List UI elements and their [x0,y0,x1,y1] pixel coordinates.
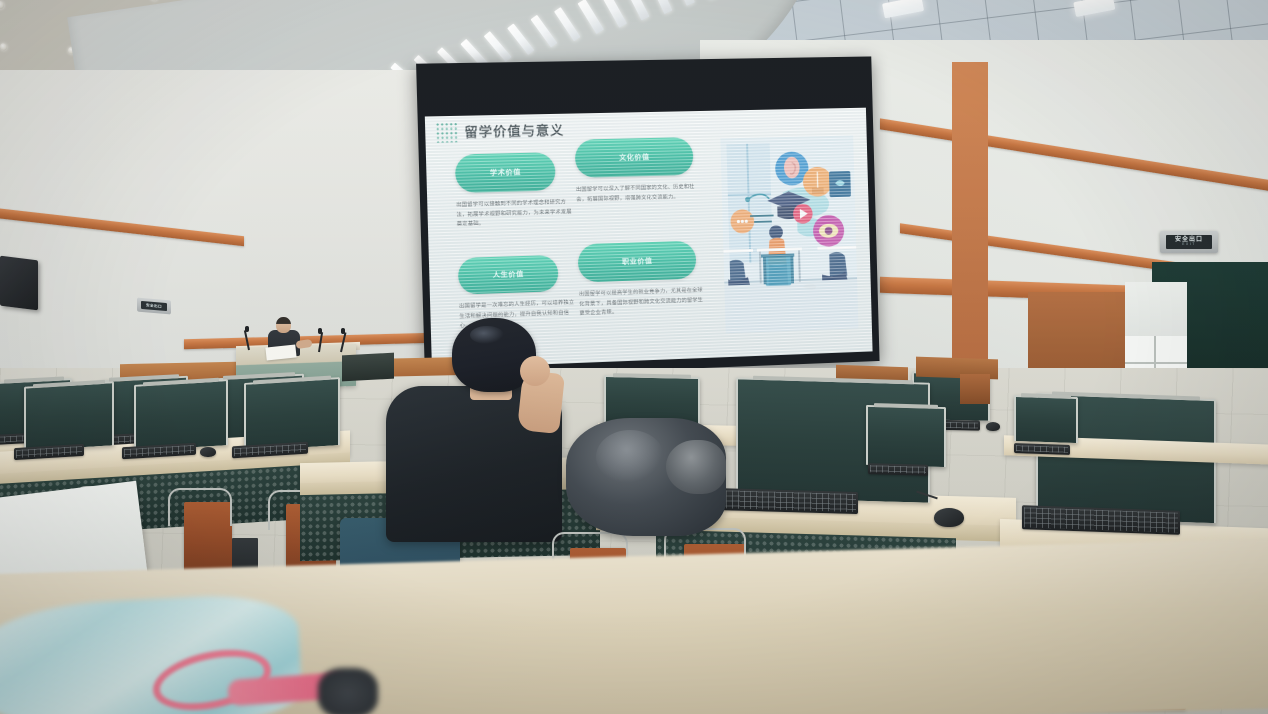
slide-pill-life: 人生价值 [458,255,559,295]
slide-pill-academic: 学术价值 [455,152,556,193]
monitor [244,377,340,451]
exit-sign-left-text: 安全出口 [146,303,162,309]
keyboard [1014,443,1070,455]
wall-speaker [0,256,38,311]
ceiling-light-slat [672,0,696,7]
slide-pill-cultural-label: 文化价值 [619,152,650,163]
podium-side-equipment [342,353,394,382]
slide-body-cultural: 出国留学可以深入了解不同国家的文化、历史和社会，拓展国际视野，增强跨文化交流能力… [576,183,700,206]
slide-body-career: 出国留学可以提高学生的就业竞争力，尤其是在全球化背景下，具备国际视野和跨文化交流… [579,286,704,319]
slide-pill-academic-label: 学术价值 [490,167,521,178]
exit-sign-left: 安全出口 [137,298,171,315]
monitor [1014,395,1078,443]
jacket-hood [666,440,726,494]
ceiling-panel-light [882,0,924,18]
slide-dot-grid-decoration [435,122,458,143]
ceiling-downlight [0,43,7,51]
slide-pill-career: 职业价值 [578,241,697,283]
foreground-dark-object [318,668,378,714]
window-mullion-h [1125,362,1187,364]
mouse [934,508,964,527]
presenter-head [276,317,291,333]
mouse [200,447,216,457]
ceiling-light-slat [648,0,672,14]
slide-pill-cultural: 文化价值 [575,137,694,178]
chair-arm [168,488,232,526]
microphone-left-head [245,326,249,332]
slide-body-academic: 出国留学可以接触到不同的学术理念和研究方法，拓展学术视野和研究能力，为未来学术发… [456,198,577,230]
lecture-hall-photo: 安全出口 留学价值与意义 学术价值 出国留学可以接触到不同的学术理念和研究方法，… [0,0,1268,714]
mouse [986,422,1000,431]
exit-sign-right-en: EXIT [1182,243,1196,246]
window-blind [1125,282,1187,336]
door-column [952,62,988,380]
rear-chair [960,374,990,404]
ceiling-light-slat [554,7,581,41]
student-hand [520,356,550,386]
exit-sign-right: 安全出口 EXIT [1160,231,1218,253]
ceiling-light-slat [578,0,604,34]
monitor [866,405,946,467]
keyboard [712,488,858,514]
slide-pill-life-label: 人生价值 [493,269,524,280]
microphone-right-head [341,328,345,334]
ceiling-light-slat [484,31,512,62]
ceiling-panel-light [1073,0,1115,17]
monitor [134,379,228,451]
keyboard [868,463,928,476]
ceiling-light-slat [507,23,535,55]
student-hair-highlight [470,326,504,344]
ceiling-downlight [150,0,158,1]
slide-pill-career-label: 职业价值 [622,256,653,267]
slide-illustration [720,136,858,334]
monitor [24,381,114,451]
ceiling-downlight [0,0,4,9]
ceiling-light-slat [601,0,627,28]
slide-title: 留学价值与意义 [464,120,564,141]
ceiling-light-slat [625,0,650,21]
jacket-fold [596,430,664,484]
ceiling-light-slat [531,15,558,48]
microphone-center-head [318,328,322,334]
